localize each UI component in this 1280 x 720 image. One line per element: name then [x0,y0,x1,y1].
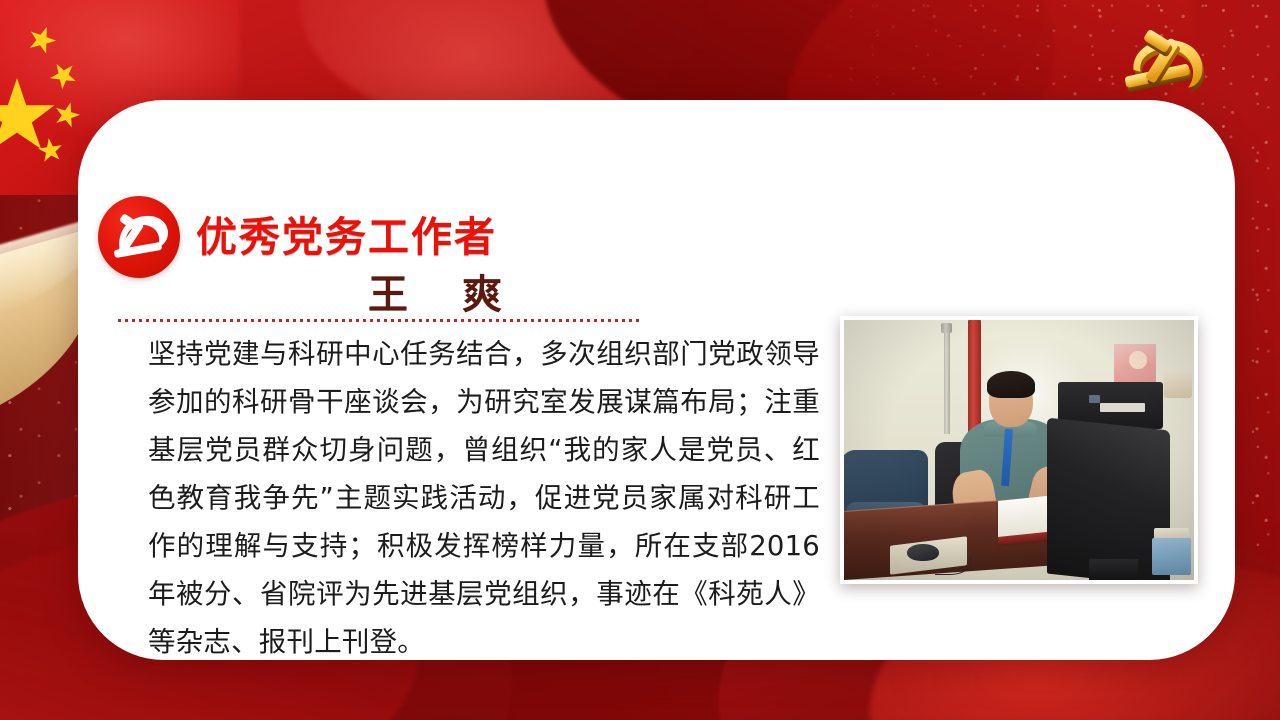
page-title: 优秀党务工作者 [196,203,497,263]
gold-hammer-sickle-icon [1114,26,1220,100]
slide-root: 优秀党务工作者 王 爽 坚持党建与科研中心任务结合，多次组织部门党政领导参加的科… [0,0,1280,720]
portrait-photo [844,320,1194,580]
dotted-divider [118,319,642,322]
hammer-sickle-icon [98,196,180,278]
biography-text: 坚持党建与科研中心任务结合，多次组织部门党政领导参加的科研骨干座谈会，为研究室发… [148,330,820,666]
portrait-photo-frame [840,316,1198,584]
person-name: 王 爽 [368,262,524,320]
photo-vignette [844,320,1194,580]
